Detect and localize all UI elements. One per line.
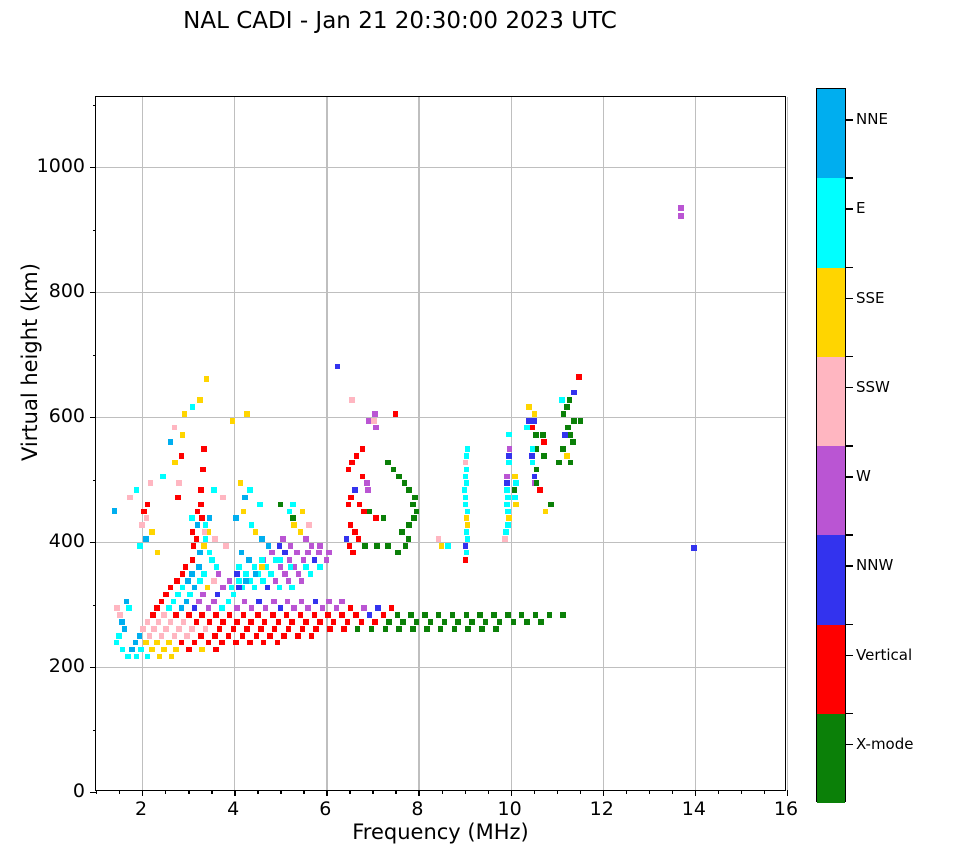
colorbar-label-tick <box>846 476 853 478</box>
colorbar-segment-nnw <box>817 535 845 624</box>
y-tick-label: 400 <box>49 530 85 552</box>
colorbar-tick <box>846 177 853 179</box>
y-tick-label: 800 <box>49 280 85 302</box>
colorbar-label-nne: NNE <box>856 110 888 128</box>
colorbar-tick <box>846 445 853 447</box>
colorbar-tick <box>846 267 853 269</box>
colorbar <box>816 88 846 802</box>
y-tick-label: 600 <box>49 405 85 427</box>
colorbar-segment-w <box>817 446 845 535</box>
colorbar-label-w: W <box>856 467 871 485</box>
y-axis-title: Virtual height (km) <box>18 182 42 542</box>
colorbar-segment-e <box>817 178 845 267</box>
y-tick-label: 0 <box>73 780 85 802</box>
colorbar-labels: NNEESSESSWWNNWVerticalX-mode <box>856 88 926 802</box>
colorbar-label-tick <box>846 565 853 567</box>
colorbar-segment-x-mode <box>817 714 845 803</box>
x-tick-label: 14 <box>682 798 706 820</box>
axis-tick-labels: 24681012141602004006008001000 <box>0 0 958 857</box>
colorbar-label-tick <box>846 119 853 121</box>
colorbar-label-ssw: SSW <box>856 378 890 396</box>
y-tick-label: 200 <box>49 655 85 677</box>
x-tick-label: 12 <box>590 798 614 820</box>
colorbar-label-nnw: NNW <box>856 556 893 574</box>
colorbar-tick <box>846 356 853 358</box>
colorbar-ticks <box>846 88 856 802</box>
colorbar-label-tick <box>846 655 853 657</box>
x-tick-label: 4 <box>227 798 239 820</box>
ionogram-figure: NAL CADI - Jan 21 20:30:00 2023 UTC 2468… <box>0 0 958 857</box>
colorbar-segment-nne <box>817 89 845 178</box>
x-tick-label: 16 <box>774 798 798 820</box>
colorbar-label-vertical: Vertical <box>856 646 912 664</box>
colorbar-label-tick <box>846 298 853 300</box>
colorbar-label-sse: SSE <box>856 289 885 307</box>
colorbar-label-tick <box>846 744 853 746</box>
colorbar-segment-ssw <box>817 357 845 446</box>
x-tick-label: 2 <box>135 798 147 820</box>
colorbar-label-x-mode: X-mode <box>856 735 913 753</box>
colorbar-segment-sse <box>817 268 845 357</box>
x-tick-label: 8 <box>411 798 423 820</box>
colorbar-label-tick <box>846 208 853 210</box>
x-tick-label: 10 <box>498 798 522 820</box>
colorbar-label-e: E <box>856 199 865 217</box>
colorbar-segment-vertical <box>817 625 845 714</box>
x-axis-title: Frequency (MHz) <box>95 820 786 844</box>
y-tick-label: 1000 <box>37 155 85 177</box>
colorbar-tick <box>846 624 853 626</box>
colorbar-tick <box>846 534 853 536</box>
x-tick-label: 6 <box>319 798 331 820</box>
colorbar-label-tick <box>846 387 853 389</box>
colorbar-tick <box>846 713 853 715</box>
